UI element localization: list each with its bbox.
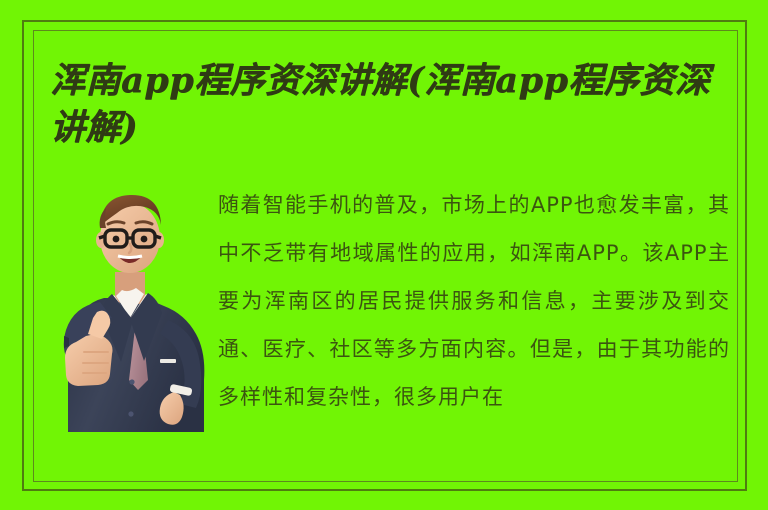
illustration-businessman xyxy=(52,186,220,432)
article-body: 随着智能手机的普及，市场上的APP也愈发丰富，其中不乏带有地域属性的应用，如浑南… xyxy=(218,181,730,421)
businessman-thumbs-up-icon xyxy=(52,186,220,432)
article-paragraph: 随着智能手机的普及，市场上的APP也愈发丰富，其中不乏带有地域属性的应用，如浑南… xyxy=(218,181,730,421)
poster-canvas: 浑南app程序资深讲解(浑南app程序资深讲解) xyxy=(0,0,768,510)
page-title: 浑南app程序资深讲解(浑南app程序资深讲解) xyxy=(50,57,718,151)
